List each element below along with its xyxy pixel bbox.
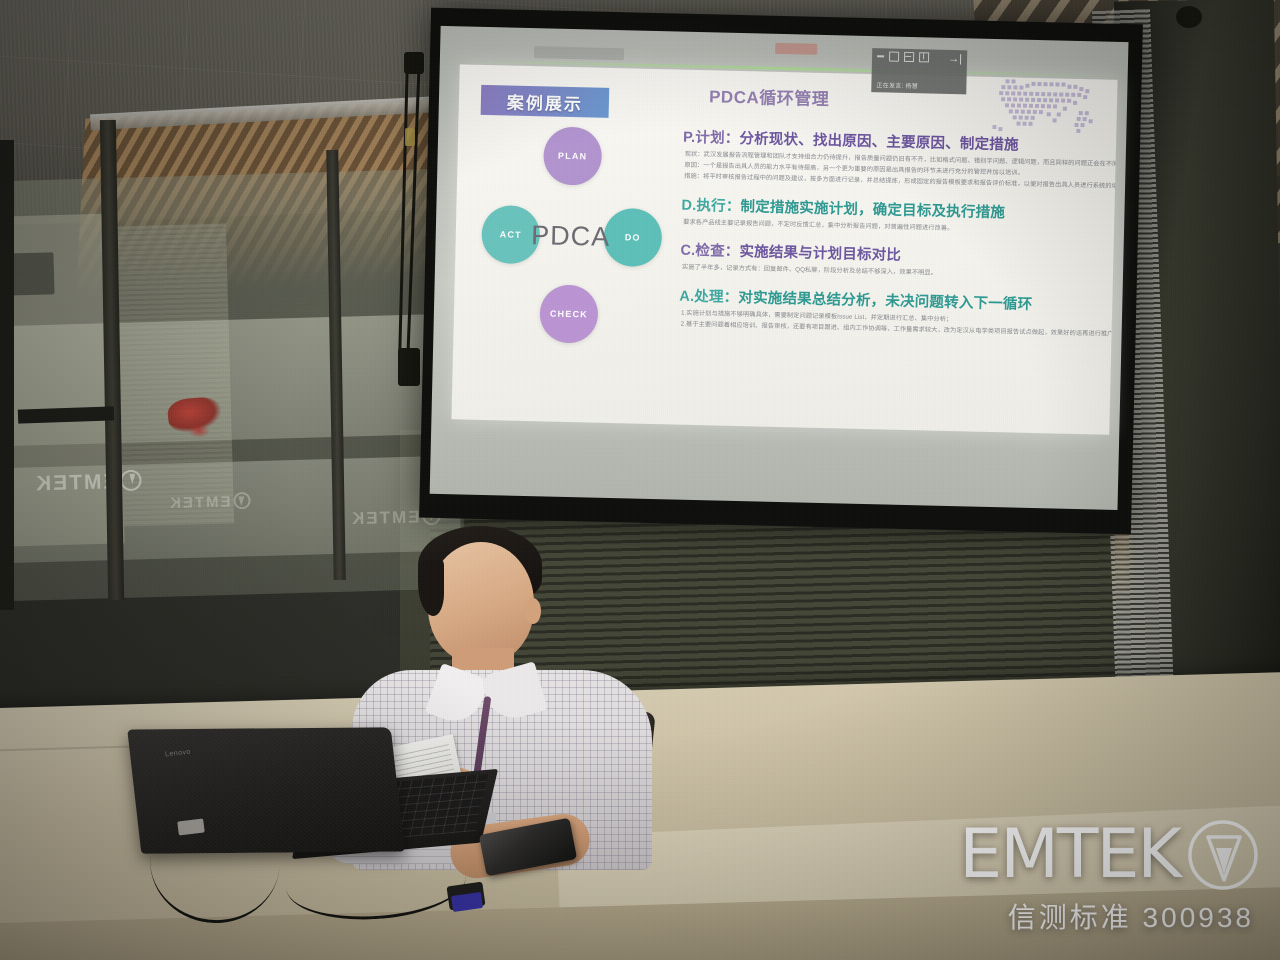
meeting-floating-toolbar[interactable]: →| 正在发言: 杨慧: [871, 48, 967, 94]
pdca-wheel-diagram: PLAN DO CHECK ACT PDCA: [473, 123, 675, 368]
heading-prefix: C.检查：: [680, 243, 739, 260]
frosted-glass-band: [0, 313, 462, 446]
cable-mount: [404, 52, 424, 74]
ceiling-sensor-box: [398, 348, 420, 386]
pdca-center-label: PDCA: [527, 217, 614, 255]
speaking-status-text: 正在发言: 杨慧: [876, 80, 961, 91]
heading-prefix: A.处理：: [679, 289, 738, 306]
presentation-slide: 案例展示 PDCA循环管理 PLAN DO CHECK ACT PDCA P.计…: [451, 64, 1117, 434]
projection-screen-surface: 案例展示 PDCA循环管理 PLAN DO CHECK ACT PDCA P.计…: [430, 26, 1129, 510]
section-body-plan: 现状：武汉发展报告流程管理和团队才支持组合力仍待提升，报告质量问题仍旧有不齐，比…: [684, 150, 1103, 192]
shared-window-titlebar-stub: [534, 46, 624, 60]
door-frame-left: [0, 140, 14, 610]
recording-indicator-tab: [775, 43, 817, 55]
heading-prefix: D.执行：: [681, 197, 740, 214]
ear: [525, 598, 541, 624]
hair-side: [418, 560, 444, 616]
emtek-ring-icon: [120, 470, 142, 492]
grid-view-icon[interactable]: [919, 52, 929, 62]
window-icon[interactable]: [889, 51, 899, 61]
head: [428, 542, 534, 664]
split-view-icon[interactable]: [904, 52, 914, 62]
slide-text-column: P.计划：分析现状、找出原因、主要原因、制定措施 现状：武汉发展报告流程管理和团…: [678, 126, 1103, 352]
heading-rest: 对实施结果总结分析，未决问题转入下一循环: [738, 290, 1032, 313]
glass-etch-emtek-1: EMTEK: [34, 467, 142, 497]
slide-title: PDCA循环管理: [709, 82, 830, 110]
pdca-node-plan: PLAN: [543, 126, 602, 185]
emtek-ring-icon: [233, 492, 250, 509]
minimize-icon[interactable]: [877, 55, 884, 57]
ceiling-speaker: [1176, 6, 1202, 28]
glass-etch-label: EMTEK: [168, 493, 231, 512]
projection-screen: 案例展示 PDCA循环管理 PLAN DO CHECK ACT PDCA P.计…: [419, 8, 1143, 535]
glass-etch-emtek-2: EMTEK: [168, 489, 251, 512]
heading-rest: 分析现状、找出原因、主要原因、制定措施: [739, 131, 1019, 154]
heading-rest: 实施结果与计划目标对比: [739, 244, 901, 264]
slide-section-badge: 案例展示: [481, 85, 610, 118]
pdca-node-check: CHECK: [539, 284, 598, 343]
screenshot-root: EMTEK EMTEK EMTEK: [0, 0, 1280, 960]
exit-fullscreen-icon[interactable]: →|: [948, 54, 962, 65]
red-wall-graphic-small: [188, 424, 210, 438]
cable-tag: [405, 128, 415, 146]
heading-rest: 制定措施实施计划，确定目标及执行措施: [740, 199, 1005, 221]
heading-prefix: P.计划：: [683, 130, 740, 147]
